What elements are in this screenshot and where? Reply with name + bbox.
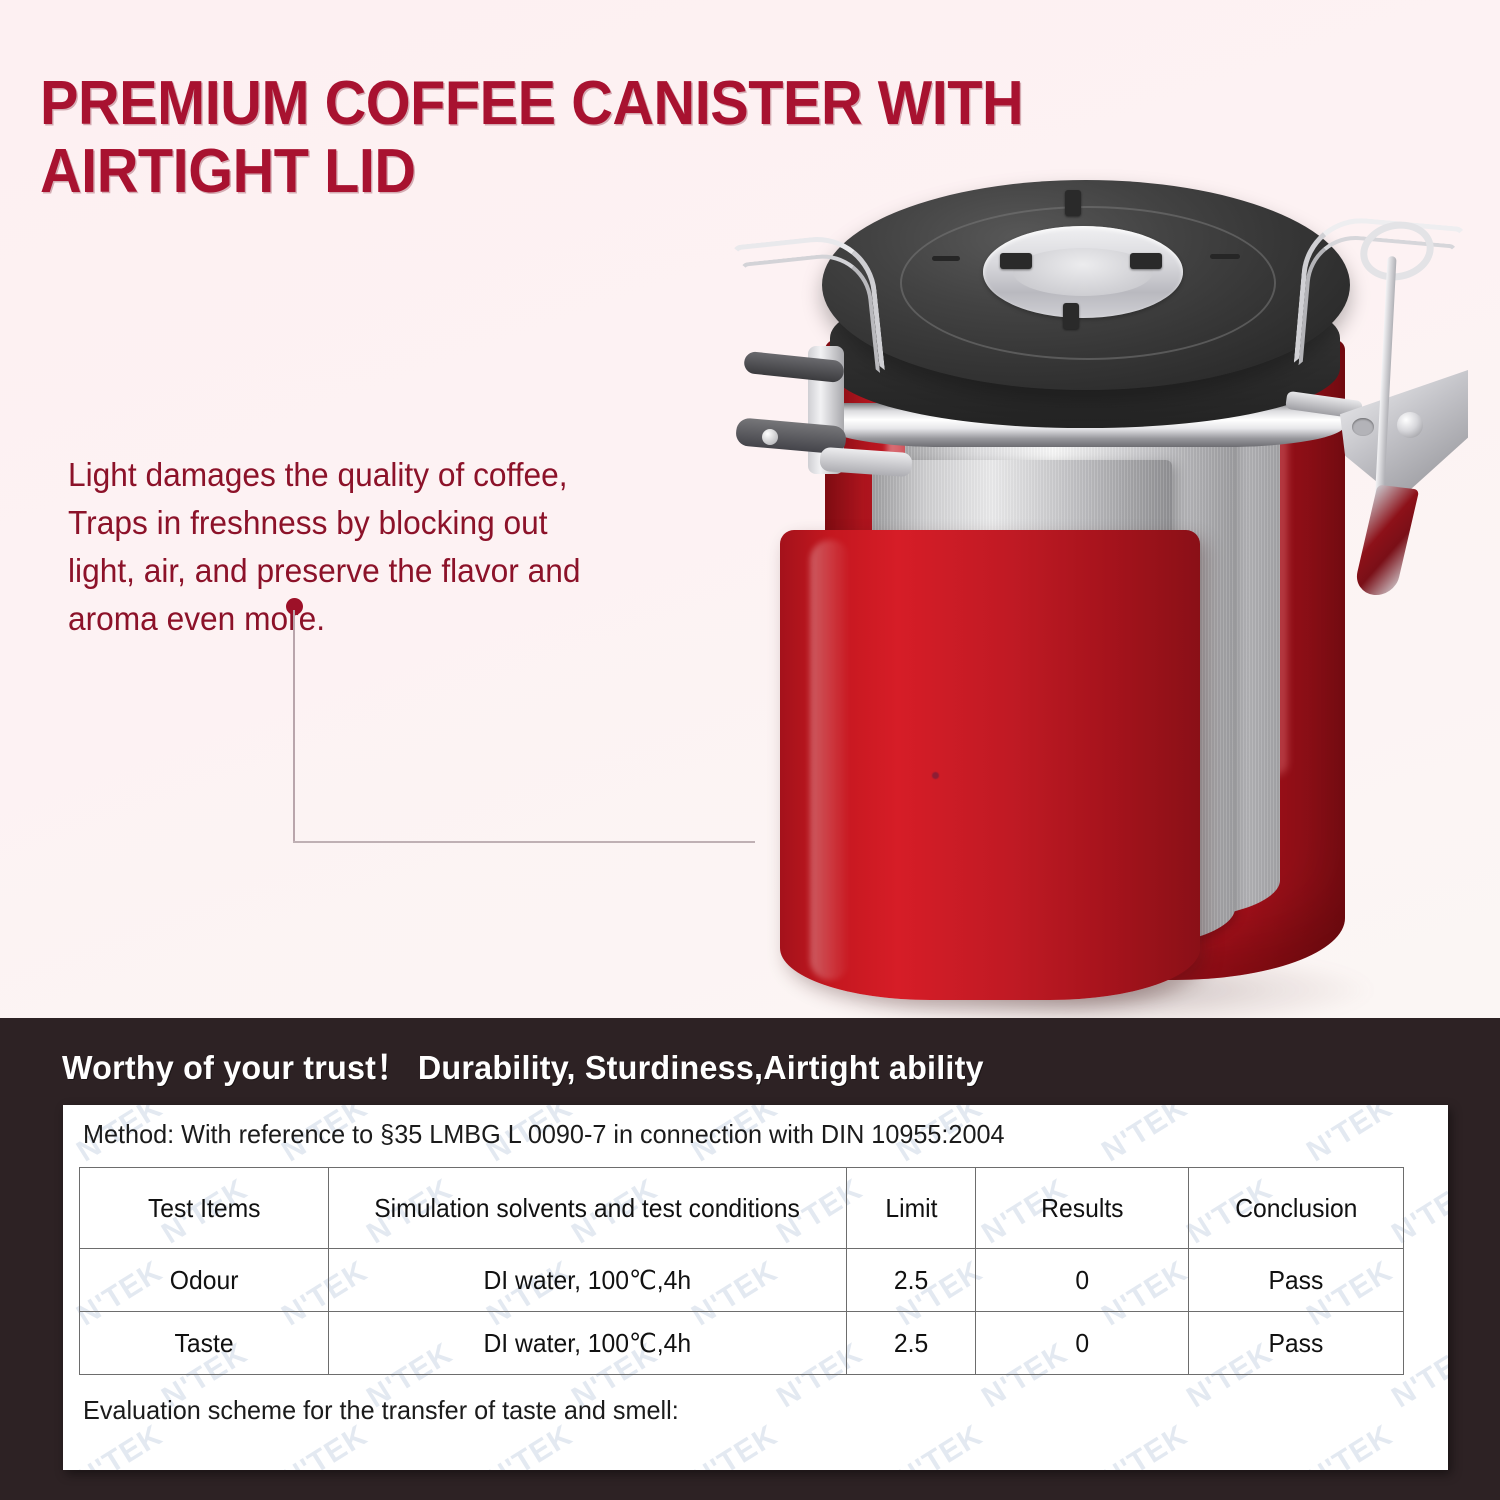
cell-test-item: Odour [80,1249,329,1312]
callout-vertical-line [293,610,295,842]
cell-conclusion: Pass [1188,1312,1403,1375]
callout-leader-line [286,598,756,848]
watermark-text: N'TEK [1301,1419,1399,1470]
evaluation-note: Evaluation scheme for the transfer of ta… [83,1395,679,1426]
callout-horizontal-line [293,841,755,843]
watermark-text: N'TEK [891,1419,989,1470]
lid-dash-right [1210,254,1240,259]
column-header-test-items: Test Items [80,1168,329,1249]
cell-limit: 2.5 [847,1249,976,1312]
lid-dash-left [932,256,960,261]
trust-heading: Worthy of your trust！ Durability, Sturdi… [62,1041,984,1089]
lid-tab-north [1065,190,1081,216]
cell-conditions: DI water, 100℃,4h [328,1312,846,1375]
test-report-card: N'TEKN'TEKN'TEKN'TEKN'TEKN'TEKN'TEKN'TEK… [63,1105,1448,1470]
table-row: Odour DI water, 100℃,4h 2.5 0 Pass [80,1249,1404,1312]
panel-speck [932,772,939,779]
column-header-results: Results [976,1168,1188,1249]
cell-results: 0 [976,1249,1188,1312]
watermark-text: N'TEK [1096,1105,1194,1169]
column-header-limit: Limit [847,1168,976,1249]
clamp-tail [1353,485,1420,598]
hero-section: PREMIUM COFFEE CANISTER WITH AIRTIGHT LI… [0,0,1500,1018]
test-results-table: Test Items Simulation solvents and test … [79,1167,1404,1375]
watermark-text: N'TEK [1301,1105,1399,1169]
detached-red-panel [780,530,1200,1000]
table-row: Taste DI water, 100℃,4h 2.5 0 Pass [80,1312,1404,1375]
column-header-conclusion: Conclusion [1188,1168,1403,1249]
watermark-text: N'TEK [686,1419,784,1470]
cell-conclusion: Pass [1188,1249,1403,1312]
watermark-text: N'TEK [71,1419,169,1470]
trust-section: Worthy of your trust！ Durability, Sturdi… [0,1018,1500,1500]
co2-valve-icon [983,226,1183,318]
clamp-hole [1352,418,1374,436]
cell-results: 0 [976,1312,1188,1375]
cell-test-item: Taste [80,1312,329,1375]
product-illustration [700,160,1500,1018]
clamp-rivet [1397,412,1423,438]
watermark-text: N'TEK [1096,1419,1194,1470]
panel-highlight [810,540,850,980]
table-header-row: Test Items Simulation solvents and test … [80,1168,1404,1249]
watermark-text: N'TEK [276,1419,374,1470]
lid-tab-south [1063,303,1079,329]
column-header-simulation: Simulation solvents and test conditions [328,1168,846,1249]
lid-tab-east [1130,253,1162,269]
cell-conditions: DI water, 100℃,4h [328,1249,846,1312]
cell-limit: 2.5 [847,1312,976,1375]
watermark-text: N'TEK [481,1419,579,1470]
method-line: Method: With reference to §35 LMBG L 009… [83,1119,1005,1150]
hinge-rivet [762,429,778,445]
lid-tab-west [1000,253,1032,269]
